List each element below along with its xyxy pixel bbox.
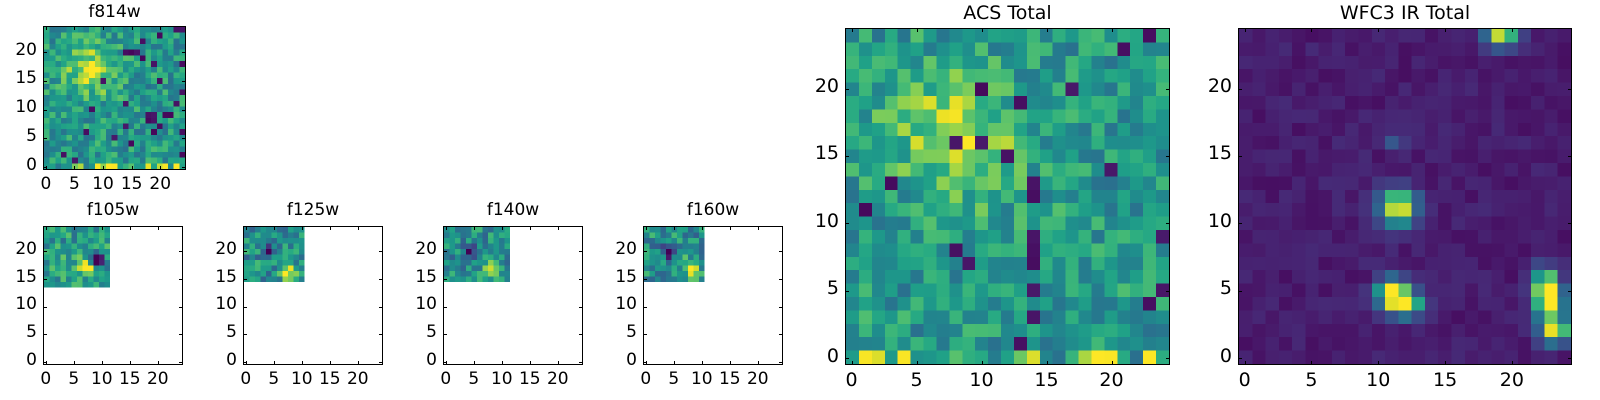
yticklabel-acs-total-4: 20	[779, 75, 839, 97]
ytick-f125w-3	[243, 279, 247, 280]
panel-title-wfc3-ir-total: WFC3 IR Total	[1238, 2, 1572, 24]
ytick-right-f160w-2	[779, 307, 783, 308]
ytick-right-acs-total-4	[1166, 89, 1170, 90]
xtick-f160w-2	[702, 361, 703, 365]
ytick-right-f105w-4	[179, 251, 183, 252]
ytick-f160w-2	[643, 307, 647, 308]
xtick-top-acs-total-2	[982, 28, 983, 32]
xtick-f125w-3	[330, 361, 331, 365]
xticklabel-f140w-2: 10	[477, 369, 527, 389]
ytick-f105w-1	[43, 334, 47, 335]
xtick-top-f814w-2	[103, 26, 104, 30]
yticklabel-f125w-2: 10	[177, 294, 237, 314]
xtick-f105w-0	[46, 361, 47, 365]
xticklabel-f125w-2: 10	[277, 369, 327, 389]
xtick-top-acs-total-1	[917, 28, 918, 32]
xticklabel-f814w-4: 20	[135, 174, 185, 194]
ytick-f140w-1	[443, 334, 447, 335]
yticklabel-acs-total-2: 10	[779, 210, 839, 232]
yticklabel-f140w-1: 5	[377, 322, 437, 342]
yticklabel-wfc3-ir-total-0: 0	[1172, 345, 1232, 367]
xticklabel-acs-total-1: 5	[892, 369, 942, 391]
xticklabel-f125w-0: 0	[221, 369, 271, 389]
ytick-wfc3-ir-total-4	[1238, 89, 1242, 90]
ytick-f125w-2	[243, 307, 247, 308]
axes-f105w	[43, 226, 183, 365]
ytick-f160w-0	[643, 362, 647, 363]
xtick-top-f125w-3	[330, 226, 331, 230]
xtick-f140w-0	[446, 361, 447, 365]
ytick-f140w-3	[443, 279, 447, 280]
ytick-right-f125w-1	[379, 334, 383, 335]
panel-title-acs-total: ACS Total	[845, 2, 1170, 24]
ytick-acs-total-3	[845, 156, 849, 157]
xtick-top-f160w-4	[758, 226, 759, 230]
xticklabel-wfc3-ir-total-3: 15	[1420, 369, 1470, 391]
xticklabel-f140w-3: 15	[505, 369, 555, 389]
xtick-top-wfc3-ir-total-3	[1445, 28, 1446, 32]
xtick-f814w-1	[74, 166, 75, 170]
xtick-top-f160w-3	[730, 226, 731, 230]
ytick-f125w-4	[243, 251, 247, 252]
ytick-right-f814w-3	[182, 81, 186, 82]
xtick-top-f105w-2	[102, 226, 103, 230]
ytick-wfc3-ir-total-0	[1238, 358, 1242, 359]
axes-f160w	[643, 226, 783, 365]
xtick-acs-total-4	[1112, 361, 1113, 365]
xtick-f105w-4	[158, 361, 159, 365]
xtick-wfc3-ir-total-1	[1311, 361, 1312, 365]
ytick-f125w-1	[243, 334, 247, 335]
xticklabel-f125w-4: 20	[333, 369, 383, 389]
yticklabel-f814w-2: 10	[0, 97, 37, 117]
xtick-top-wfc3-ir-total-2	[1378, 28, 1379, 32]
xticklabel-f160w-3: 15	[705, 369, 755, 389]
yticklabel-f125w-4: 20	[177, 239, 237, 259]
xticklabel-wfc3-ir-total-0: 0	[1220, 369, 1270, 391]
ytick-right-f160w-3	[779, 279, 783, 280]
ytick-f814w-2	[43, 110, 47, 111]
xticklabel-f814w-3: 15	[107, 174, 157, 194]
ytick-right-f814w-4	[182, 52, 186, 53]
xticklabel-f105w-2: 10	[77, 369, 127, 389]
xtick-top-f160w-1	[674, 226, 675, 230]
xticklabel-f814w-1: 5	[49, 174, 99, 194]
ytick-f105w-2	[43, 307, 47, 308]
xticklabel-f160w-2: 10	[677, 369, 727, 389]
xticklabel-f814w-2: 10	[78, 174, 128, 194]
xtick-f140w-3	[530, 361, 531, 365]
ytick-right-f814w-0	[182, 167, 186, 168]
xticklabel-f140w-1: 5	[449, 369, 499, 389]
xtick-wfc3-ir-total-4	[1512, 361, 1513, 365]
yticklabel-f105w-3: 15	[0, 267, 37, 287]
ytick-right-f160w-0	[779, 362, 783, 363]
panel-title-f140w: f140w	[443, 200, 583, 220]
xtick-f160w-4	[758, 361, 759, 365]
xtick-top-f105w-4	[158, 226, 159, 230]
xtick-top-f814w-4	[160, 26, 161, 30]
xticklabel-wfc3-ir-total-1: 5	[1286, 369, 1336, 391]
ytick-f105w-0	[43, 362, 47, 363]
ytick-right-f140w-0	[579, 362, 583, 363]
panel-title-f125w: f125w	[243, 200, 383, 220]
xtick-f160w-1	[674, 361, 675, 365]
xticklabel-wfc3-ir-total-2: 10	[1353, 369, 1403, 391]
ytick-right-f105w-0	[179, 362, 183, 363]
xtick-acs-total-0	[852, 361, 853, 365]
yticklabel-f814w-1: 5	[0, 126, 37, 146]
xtick-top-f125w-4	[358, 226, 359, 230]
ytick-right-f160w-4	[779, 251, 783, 252]
xtick-f140w-4	[558, 361, 559, 365]
heatmap-image-f140w	[444, 227, 582, 364]
ytick-right-f105w-2	[179, 307, 183, 308]
ytick-f814w-3	[43, 81, 47, 82]
panel-title-f105w: f105w	[43, 200, 183, 220]
yticklabel-f140w-2: 10	[377, 294, 437, 314]
panel-f814w: f814w0510152005101520	[0, 0, 1600, 400]
ytick-right-f105w-1	[179, 334, 183, 335]
ytick-right-f125w-2	[379, 307, 383, 308]
ytick-right-f160w-1	[779, 334, 783, 335]
ytick-f140w-0	[443, 362, 447, 363]
ytick-acs-total-0	[845, 358, 849, 359]
xtick-top-f140w-2	[502, 226, 503, 230]
xtick-f125w-4	[358, 361, 359, 365]
ytick-acs-total-4	[845, 89, 849, 90]
panel-title-f160w: f160w	[643, 200, 783, 220]
yticklabel-wfc3-ir-total-4: 20	[1172, 75, 1232, 97]
xtick-top-wfc3-ir-total-1	[1311, 28, 1312, 32]
yticklabel-f105w-0: 0	[0, 350, 37, 370]
xtick-top-f140w-1	[474, 226, 475, 230]
xtick-acs-total-1	[917, 361, 918, 365]
ytick-right-acs-total-0	[1166, 358, 1170, 359]
xtick-f105w-2	[102, 361, 103, 365]
xtick-top-f105w-3	[130, 226, 131, 230]
xtick-top-acs-total-3	[1047, 28, 1048, 32]
ytick-right-acs-total-2	[1166, 223, 1170, 224]
xtick-acs-total-3	[1047, 361, 1048, 365]
ytick-right-acs-total-3	[1166, 156, 1170, 157]
xticklabel-f105w-3: 15	[105, 369, 155, 389]
heatmap-image-acs-total	[846, 29, 1169, 364]
heatmap-image-f125w	[244, 227, 382, 364]
xticklabel-wfc3-ir-total-4: 20	[1487, 369, 1537, 391]
xtick-f105w-3	[130, 361, 131, 365]
xtick-top-f160w-0	[646, 226, 647, 230]
panel-wfc3-ir-total: WFC3 IR Total0510152005101520	[0, 0, 1600, 400]
yticklabel-f160w-4: 20	[577, 239, 637, 259]
ytick-f814w-4	[43, 52, 47, 53]
yticklabel-f140w-3: 15	[377, 267, 437, 287]
axes-f814w	[43, 26, 186, 170]
xtick-f140w-1	[474, 361, 475, 365]
xtick-top-f160w-2	[702, 226, 703, 230]
yticklabel-f814w-4: 20	[0, 40, 37, 60]
xtick-top-wfc3-ir-total-4	[1512, 28, 1513, 32]
yticklabel-f160w-1: 5	[577, 322, 637, 342]
yticklabel-wfc3-ir-total-3: 15	[1172, 142, 1232, 164]
ytick-f160w-4	[643, 251, 647, 252]
xtick-f814w-2	[103, 166, 104, 170]
xticklabel-f160w-1: 5	[649, 369, 699, 389]
xticklabel-f140w-0: 0	[421, 369, 471, 389]
axes-acs-total	[845, 28, 1170, 365]
ytick-right-wfc3-ir-total-2	[1568, 223, 1572, 224]
ytick-wfc3-ir-total-1	[1238, 291, 1242, 292]
ytick-right-f814w-2	[182, 110, 186, 111]
xtick-top-f814w-3	[132, 26, 133, 30]
ytick-right-f140w-3	[579, 279, 583, 280]
yticklabel-f814w-3: 15	[0, 68, 37, 88]
xtick-wfc3-ir-total-3	[1445, 361, 1446, 365]
ytick-right-wfc3-ir-total-1	[1568, 291, 1572, 292]
xtick-top-f814w-0	[46, 26, 47, 30]
xtick-top-wfc3-ir-total-0	[1245, 28, 1246, 32]
axes-f125w	[243, 226, 383, 365]
xticklabel-acs-total-2: 10	[957, 369, 1007, 391]
ytick-right-f140w-4	[579, 251, 583, 252]
ytick-wfc3-ir-total-3	[1238, 156, 1242, 157]
yticklabel-f140w-0: 0	[377, 350, 437, 370]
ytick-acs-total-1	[845, 291, 849, 292]
xtick-top-f814w-1	[74, 26, 75, 30]
ytick-right-f125w-0	[379, 362, 383, 363]
xticklabel-acs-total-0: 0	[827, 369, 877, 391]
panel-f140w: f140w0510152005101520	[0, 0, 1600, 400]
xtick-top-f125w-2	[302, 226, 303, 230]
ytick-f814w-1	[43, 138, 47, 139]
xtick-top-f140w-0	[446, 226, 447, 230]
xtick-f140w-2	[502, 361, 503, 365]
ytick-right-acs-total-1	[1166, 291, 1170, 292]
xticklabel-f105w-0: 0	[21, 369, 71, 389]
xtick-f105w-1	[74, 361, 75, 365]
panel-title-f814w: f814w	[43, 2, 186, 22]
ytick-wfc3-ir-total-2	[1238, 223, 1242, 224]
ytick-right-f140w-1	[579, 334, 583, 335]
xtick-top-f105w-1	[74, 226, 75, 230]
yticklabel-f160w-0: 0	[577, 350, 637, 370]
ytick-right-f125w-4	[379, 251, 383, 252]
ytick-right-f814w-1	[182, 138, 186, 139]
yticklabel-f125w-1: 5	[177, 322, 237, 342]
xtick-top-f105w-0	[46, 226, 47, 230]
ytick-f105w-3	[43, 279, 47, 280]
panel-acs-total: ACS Total0510152005101520	[0, 0, 1600, 400]
heatmap-image-f160w	[644, 227, 782, 364]
xticklabel-f140w-4: 20	[533, 369, 583, 389]
xticklabel-f125w-1: 5	[249, 369, 299, 389]
panel-f160w: f160w0510152005101520	[0, 0, 1600, 400]
ytick-right-f140w-2	[579, 307, 583, 308]
heatmap-image-f814w	[44, 27, 185, 169]
yticklabel-acs-total-3: 15	[779, 142, 839, 164]
xtick-top-acs-total-4	[1112, 28, 1113, 32]
figure-canvas: f814w0510152005101520f105w05101520051015…	[0, 0, 1600, 400]
ytick-f140w-2	[443, 307, 447, 308]
ytick-f814w-0	[43, 167, 47, 168]
ytick-f160w-3	[643, 279, 647, 280]
ytick-right-wfc3-ir-total-4	[1568, 89, 1572, 90]
xticklabel-f125w-3: 15	[305, 369, 355, 389]
yticklabel-f105w-4: 20	[0, 239, 37, 259]
ytick-f125w-0	[243, 362, 247, 363]
yticklabel-f125w-3: 15	[177, 267, 237, 287]
ytick-f140w-4	[443, 251, 447, 252]
xticklabel-f814w-0: 0	[21, 174, 71, 194]
yticklabel-wfc3-ir-total-1: 5	[1172, 277, 1232, 299]
xtick-f125w-0	[246, 361, 247, 365]
xtick-top-f140w-3	[530, 226, 531, 230]
xtick-f814w-3	[132, 166, 133, 170]
xtick-top-acs-total-0	[852, 28, 853, 32]
yticklabel-f814w-0: 0	[0, 155, 37, 175]
axes-wfc3-ir-total	[1238, 28, 1572, 365]
xtick-f125w-1	[274, 361, 275, 365]
ytick-right-wfc3-ir-total-0	[1568, 358, 1572, 359]
xtick-f160w-0	[646, 361, 647, 365]
xticklabel-f160w-0: 0	[621, 369, 671, 389]
ytick-acs-total-2	[845, 223, 849, 224]
ytick-f105w-4	[43, 251, 47, 252]
xtick-f814w-4	[160, 166, 161, 170]
panel-f105w: f105w0510152005101520	[0, 0, 1600, 400]
xtick-f814w-0	[46, 166, 47, 170]
heatmap-image-f105w	[44, 227, 182, 364]
xticklabel-f105w-4: 20	[133, 369, 183, 389]
xtick-acs-total-2	[982, 361, 983, 365]
xticklabel-f105w-1: 5	[49, 369, 99, 389]
ytick-right-f125w-3	[379, 279, 383, 280]
yticklabel-acs-total-0: 0	[779, 345, 839, 367]
xticklabel-acs-total-4: 20	[1087, 369, 1137, 391]
yticklabel-f160w-3: 15	[577, 267, 637, 287]
xtick-top-f125w-0	[246, 226, 247, 230]
yticklabel-f160w-2: 10	[577, 294, 637, 314]
xtick-f125w-2	[302, 361, 303, 365]
xtick-f160w-3	[730, 361, 731, 365]
heatmap-image-wfc3-ir-total	[1239, 29, 1571, 364]
yticklabel-acs-total-1: 5	[779, 277, 839, 299]
ytick-right-wfc3-ir-total-3	[1568, 156, 1572, 157]
axes-f140w	[443, 226, 583, 365]
yticklabel-wfc3-ir-total-2: 10	[1172, 210, 1232, 232]
xtick-top-f125w-1	[274, 226, 275, 230]
panel-f125w: f125w0510152005101520	[0, 0, 1600, 400]
xtick-wfc3-ir-total-2	[1378, 361, 1379, 365]
xtick-top-f140w-4	[558, 226, 559, 230]
ytick-f160w-1	[643, 334, 647, 335]
xticklabel-f160w-4: 20	[733, 369, 783, 389]
yticklabel-f125w-0: 0	[177, 350, 237, 370]
xtick-wfc3-ir-total-0	[1245, 361, 1246, 365]
yticklabel-f105w-1: 5	[0, 322, 37, 342]
yticklabel-f140w-4: 20	[377, 239, 437, 259]
ytick-right-f105w-3	[179, 279, 183, 280]
xticklabel-acs-total-3: 15	[1022, 369, 1072, 391]
yticklabel-f105w-2: 10	[0, 294, 37, 314]
